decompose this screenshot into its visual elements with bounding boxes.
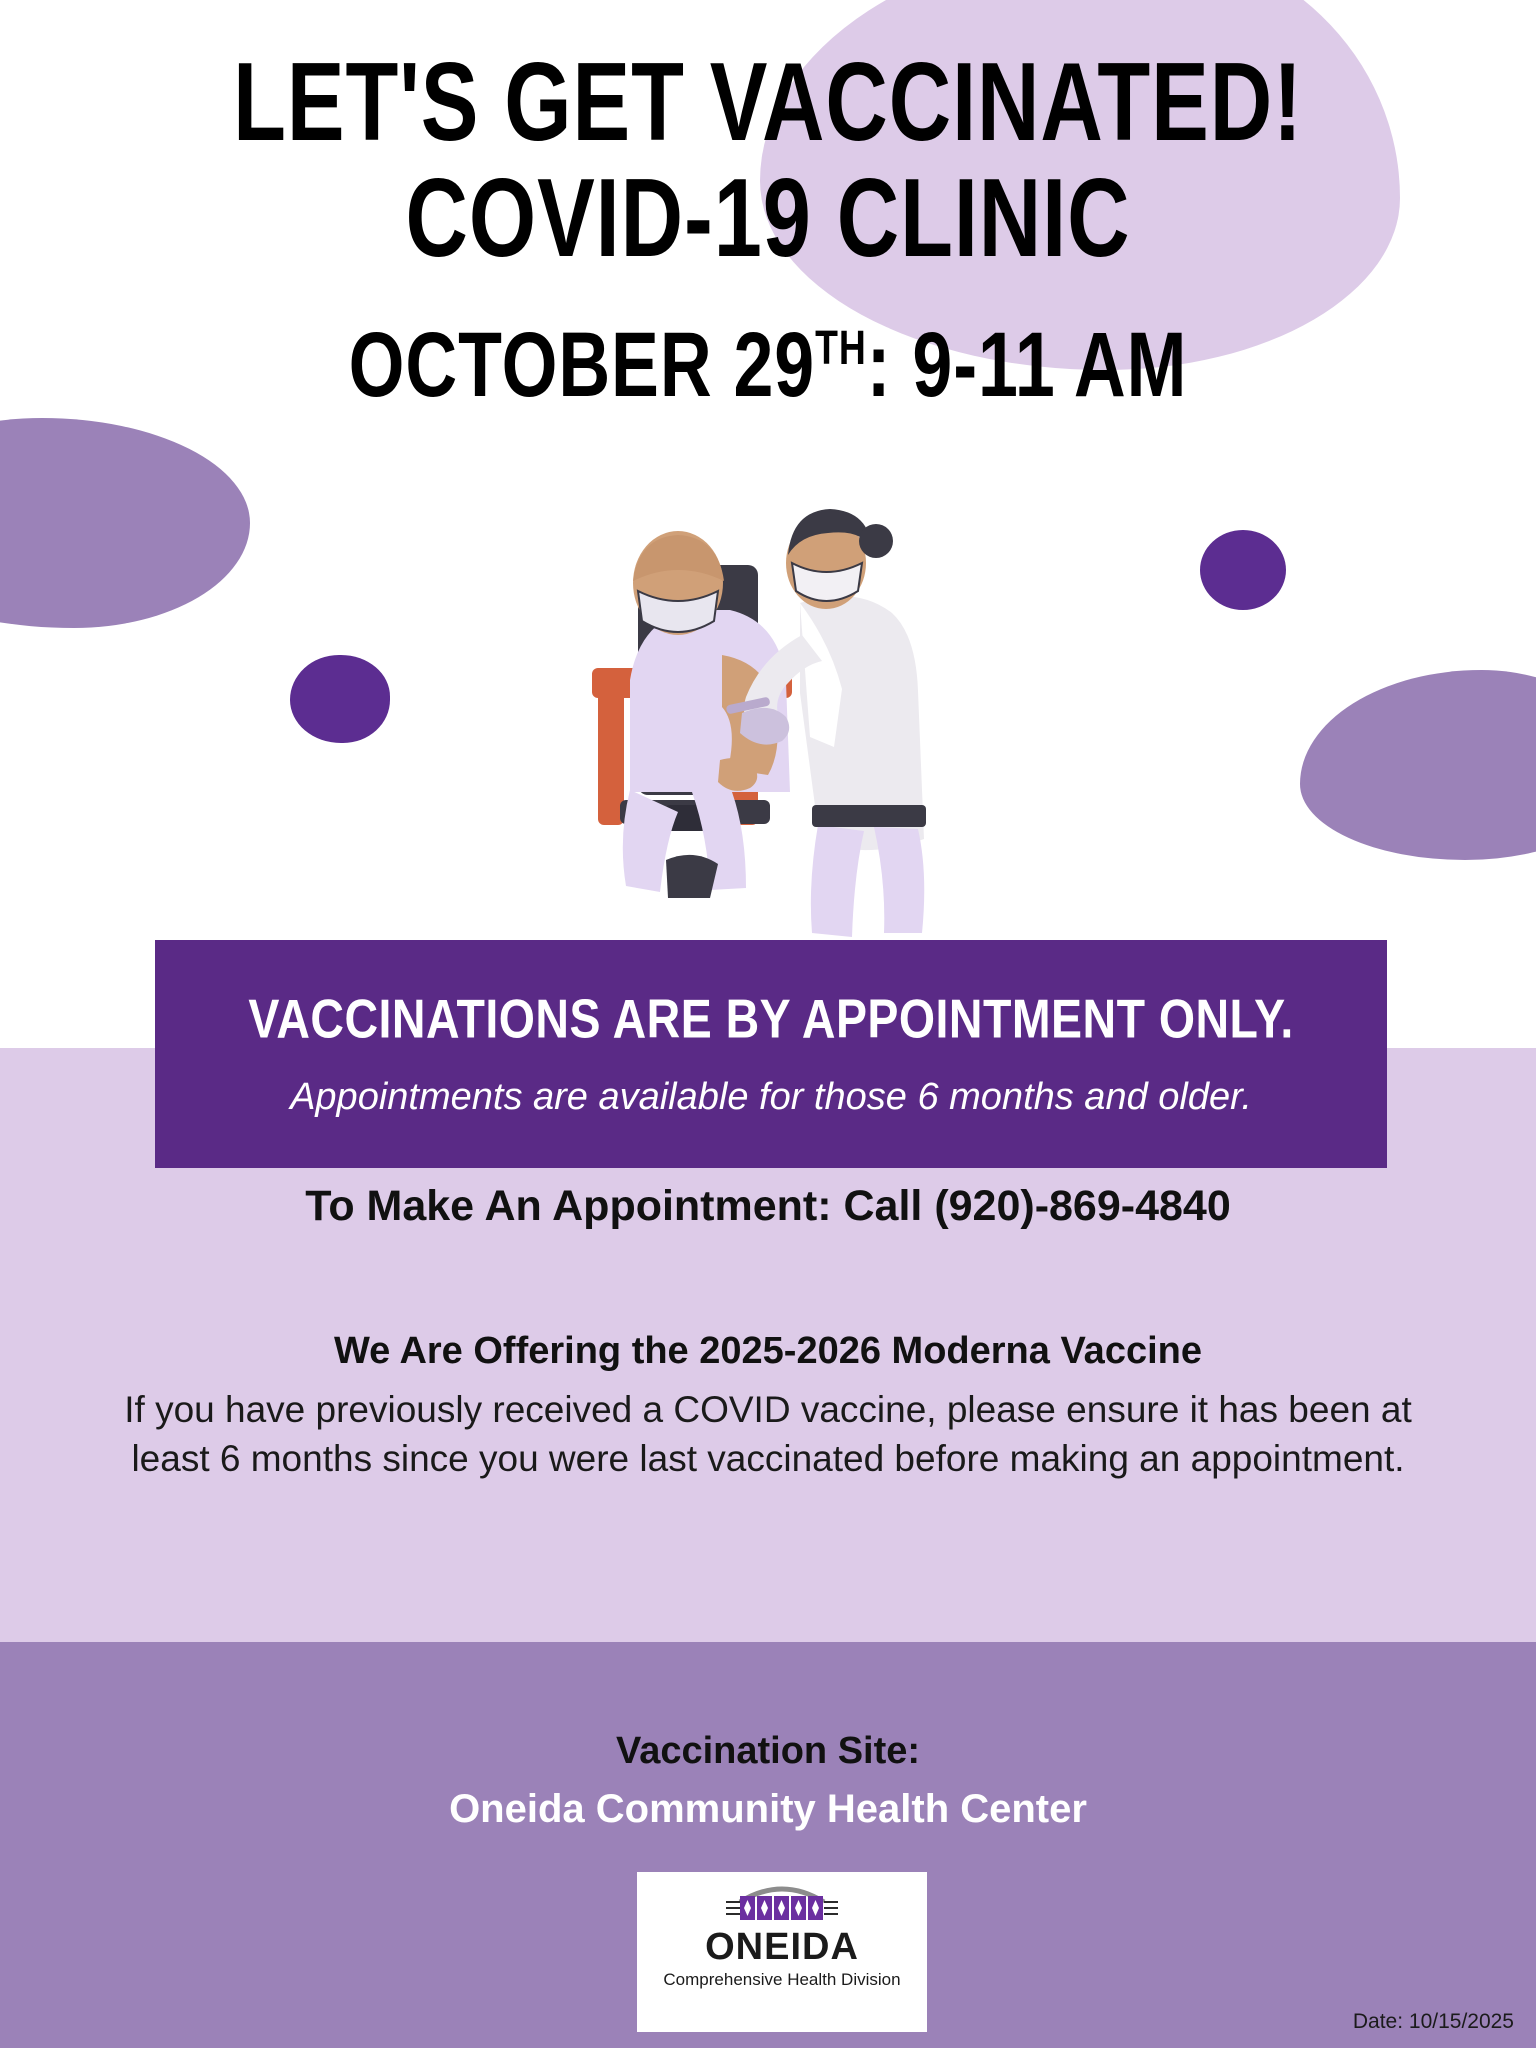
vaccination-site-block: Vaccination Site: Oneida Community Healt… <box>0 1730 1536 1832</box>
call-to-action-line: To Make An Appointment: Call (920)-869-4… <box>0 1182 1536 1231</box>
appointment-banner-subtitle: Appointments are available for those 6 m… <box>290 1076 1252 1119</box>
offering-block: We Are Offering the 2025-2026 Moderna Va… <box>118 1330 1418 1483</box>
vaccination-clinic-flyer: LET'S GET VACCINATED! COVID-19 CLINIC OC… <box>0 0 1536 2048</box>
appointment-banner: VACCINATIONS ARE BY APPOINTMENT ONLY. Ap… <box>155 940 1387 1168</box>
oneida-wordmark: ONEIDA <box>705 1928 859 1966</box>
oneida-wampum-belt-icon <box>682 1878 882 1930</box>
headline-line-1: LET'S GET VACCINATED! <box>61 47 1474 158</box>
date-time-suffix: : 9-11 AM <box>867 312 1188 416</box>
oneida-logo-card: ONEIDA Comprehensive Health Division <box>637 1872 927 2032</box>
clinic-date-time: OCTOBER 29TH: 9-11 AM <box>61 318 1474 410</box>
offering-body: If you have previously received a COVID … <box>123 1385 1413 1483</box>
date-ordinal-suffix: TH <box>815 320 867 374</box>
footer-date-stamp: Date: 10/15/2025 <box>1353 2010 1514 2034</box>
vaccination-site-label: Vaccination Site: <box>0 1730 1536 1773</box>
vaccination-site-name: Oneida Community Health Center <box>0 1787 1536 1832</box>
offering-title: We Are Offering the 2025-2026 Moderna Va… <box>118 1330 1418 1373</box>
headline-line-2: COVID-19 CLINIC <box>61 163 1474 274</box>
oneida-logo-tagline: Comprehensive Health Division <box>663 1970 900 1990</box>
date-prefix: OCTOBER 29 <box>349 312 815 416</box>
appointment-banner-title: VACCINATIONS ARE BY APPOINTMENT ONLY. <box>248 987 1293 1051</box>
headline-block: LET'S GET VACCINATED! COVID-19 CLINIC OC… <box>0 55 1536 403</box>
vaccination-illustration-svg <box>470 505 1070 945</box>
vaccination-illustration <box>470 505 1070 945</box>
